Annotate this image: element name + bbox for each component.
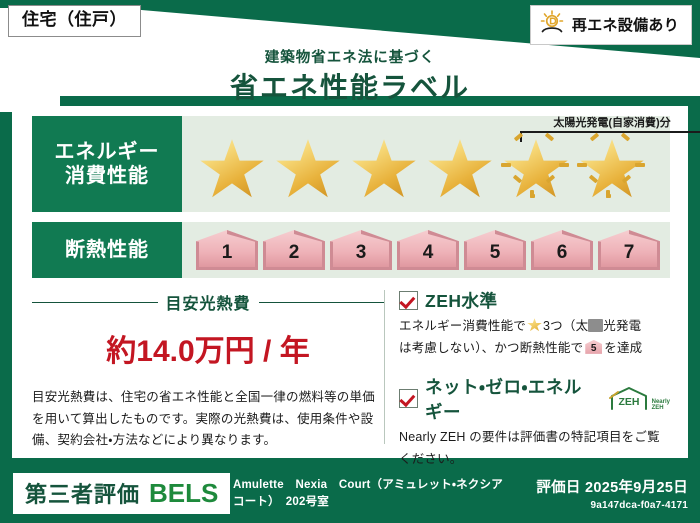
insulation-level-6: 6 bbox=[531, 230, 593, 270]
net-zero-energy-checkbox[interactable] bbox=[399, 389, 418, 408]
star-dashed-6 bbox=[576, 132, 650, 202]
property-name-line2: コート） 202号室 bbox=[233, 496, 329, 508]
insulation-level-number: 2 bbox=[289, 242, 300, 270]
energy-label-root: 住宅（住戸） 再エネ設備あり 建築物省エネ法に基づく 省エネ性能ラベル bbox=[0, 0, 700, 523]
insulation-performance-row: 断熱性能 1 2 3 4 5 6 7 bbox=[32, 222, 670, 278]
star-solid-1 bbox=[196, 132, 270, 202]
bels-logo-text: BELS bbox=[149, 478, 218, 509]
insulation-performance-label: 断熱性能 bbox=[32, 222, 182, 278]
property-name: Amulette Nexia Court（アミュレット・ネクシア コート） 20… bbox=[233, 477, 523, 512]
zeh-standard-body: エネルギー消費性能で3つ（太光発電 は考慮しない）、かつ断熱性能で5を達成 bbox=[399, 316, 670, 360]
zeh-body-redacted-text: 光発電 bbox=[603, 319, 641, 333]
utility-cost-note: 目安光熱費は、住宅の省エネ性能と全国一律の燃料等の単価を用いて算出したものです。… bbox=[32, 387, 384, 452]
star-solid-3 bbox=[348, 132, 422, 202]
energy-label-line2: 消費性能 bbox=[65, 164, 149, 188]
evaluation-id: 9a147dca-f0a7-4171 bbox=[536, 500, 688, 511]
insulation-level-3: 3 bbox=[330, 230, 392, 270]
insulation-level-number: 7 bbox=[624, 242, 635, 270]
insulation-level-number: 5 bbox=[490, 242, 501, 270]
zeh-sub-line1: Nearly bbox=[652, 399, 670, 405]
svg-text:ZEH: ZEH bbox=[618, 396, 639, 408]
star-solid-4 bbox=[424, 132, 498, 202]
insulation-level-number: 4 bbox=[423, 242, 434, 270]
bels-japanese-label: 第三者評価 bbox=[25, 477, 140, 509]
evaluation-date: 評価日 2025年9月25日 bbox=[536, 476, 688, 497]
net-zero-energy-body: Nearly ZEH の要件は評価書の特記項目をご覧ください。 bbox=[399, 427, 670, 471]
zeh-body-part1: エネルギー消費性能で bbox=[399, 319, 526, 333]
solar-annotation-text: 太陽光発電(自家消費)分 bbox=[512, 114, 700, 130]
renewable-equipment-badge: 再エネ設備あり bbox=[530, 5, 692, 45]
footer: 第三者評価 BELS Amulette Nexia Court（アミュレット・ネ… bbox=[0, 465, 700, 523]
utility-cost-section: 目安光熱費 約14.0万円 / 年 目安光熱費は、住宅の省エネ性能と全国一律の燃… bbox=[32, 286, 384, 448]
document-type-tag: 住宅（住戸） bbox=[8, 5, 141, 37]
zeh-logo: ZEH Nearly ZEH bbox=[608, 386, 670, 411]
label-subtitle: 建築物省エネ法に基づく bbox=[0, 46, 700, 67]
energy-star-rating bbox=[182, 132, 650, 202]
insulation-level-2: 2 bbox=[263, 230, 325, 270]
section-divider bbox=[384, 290, 385, 444]
utility-cost-value: 約14.0万円 / 年 bbox=[32, 326, 384, 370]
insulation-level-5: 5 bbox=[464, 230, 526, 270]
insulation-level-scale: 1 2 3 4 5 6 7 bbox=[182, 230, 660, 270]
certification-section: ZEH水準 エネルギー消費性能で3つ（太光発電 は考慮しない）、かつ断熱性能で5… bbox=[395, 286, 670, 448]
insulation-level-number: 3 bbox=[356, 242, 367, 270]
renewable-badge-label: 再エネ設備あり bbox=[572, 14, 679, 35]
lower-section: 目安光熱費 約14.0万円 / 年 目安光熱費は、住宅の省エネ性能と全国一律の燃… bbox=[32, 286, 670, 448]
utility-cost-heading-text: 目安光熱費 bbox=[166, 290, 251, 314]
star-solid-2 bbox=[272, 132, 346, 202]
bels-certification-mark: 第三者評価 BELS bbox=[13, 473, 230, 514]
insulation-level-number: 1 bbox=[222, 242, 233, 270]
redacted-character bbox=[588, 319, 603, 332]
insulation-level-1: 1 bbox=[196, 230, 258, 270]
insulation-performance-value: 1 2 3 4 5 6 7 bbox=[182, 222, 670, 278]
star-dashed-5 bbox=[500, 132, 574, 202]
inline-house-number: 5 bbox=[585, 340, 602, 354]
energy-performance-label: エネルギー 消費性能 bbox=[32, 116, 182, 212]
insulation-level-number: 6 bbox=[557, 242, 568, 270]
label-title: 省エネ性能ラベル bbox=[0, 66, 700, 106]
insulation-level-7: 7 bbox=[598, 230, 660, 270]
content-panel: エネルギー 消費性能 太陽光発電(自家消費)分 bbox=[12, 106, 688, 458]
zeh-body-part3: を達成 bbox=[604, 341, 642, 355]
energy-performance-row: エネルギー 消費性能 太陽光発電(自家消費)分 bbox=[32, 116, 670, 212]
heading-rule-left bbox=[32, 302, 158, 303]
inline-house-icon: 5 bbox=[585, 340, 602, 354]
zeh-body-star-text: 3つ（太 bbox=[543, 319, 588, 333]
zeh-house-icon: ZEH bbox=[608, 386, 650, 411]
zeh-standard-title: ZEH水準 bbox=[425, 288, 498, 313]
zeh-standard-checkbox[interactable] bbox=[399, 291, 418, 310]
heading-rule-right bbox=[259, 302, 385, 303]
insulation-level-4: 4 bbox=[397, 230, 459, 270]
zeh-logo-subtext: Nearly ZEH bbox=[652, 399, 670, 412]
zeh-body-part2: は考慮しない）、かつ断熱性能で bbox=[399, 341, 583, 355]
property-name-line1: Amulette Nexia Court（アミュレット・ネクシア bbox=[233, 479, 503, 491]
utility-cost-heading: 目安光熱費 bbox=[32, 290, 384, 314]
energy-label-line1: エネルギー bbox=[55, 140, 160, 164]
net-zero-energy-title: ネット・ゼロ・エネルギー bbox=[425, 374, 595, 424]
solar-sun-icon bbox=[539, 10, 565, 39]
zeh-standard-check-row: ZEH水準 bbox=[399, 288, 670, 313]
evaluation-info: 評価日 2025年9月25日 9a147dca-f0a7-4171 bbox=[536, 476, 688, 511]
net-zero-energy-check-row: ネット・ゼロ・エネルギー ZEH Nearly ZEH bbox=[399, 374, 670, 424]
energy-performance-value: 太陽光発電(自家消費)分 bbox=[182, 116, 670, 212]
zeh-sub-line2: ZEH bbox=[652, 405, 664, 411]
inline-star-icon bbox=[527, 318, 542, 332]
